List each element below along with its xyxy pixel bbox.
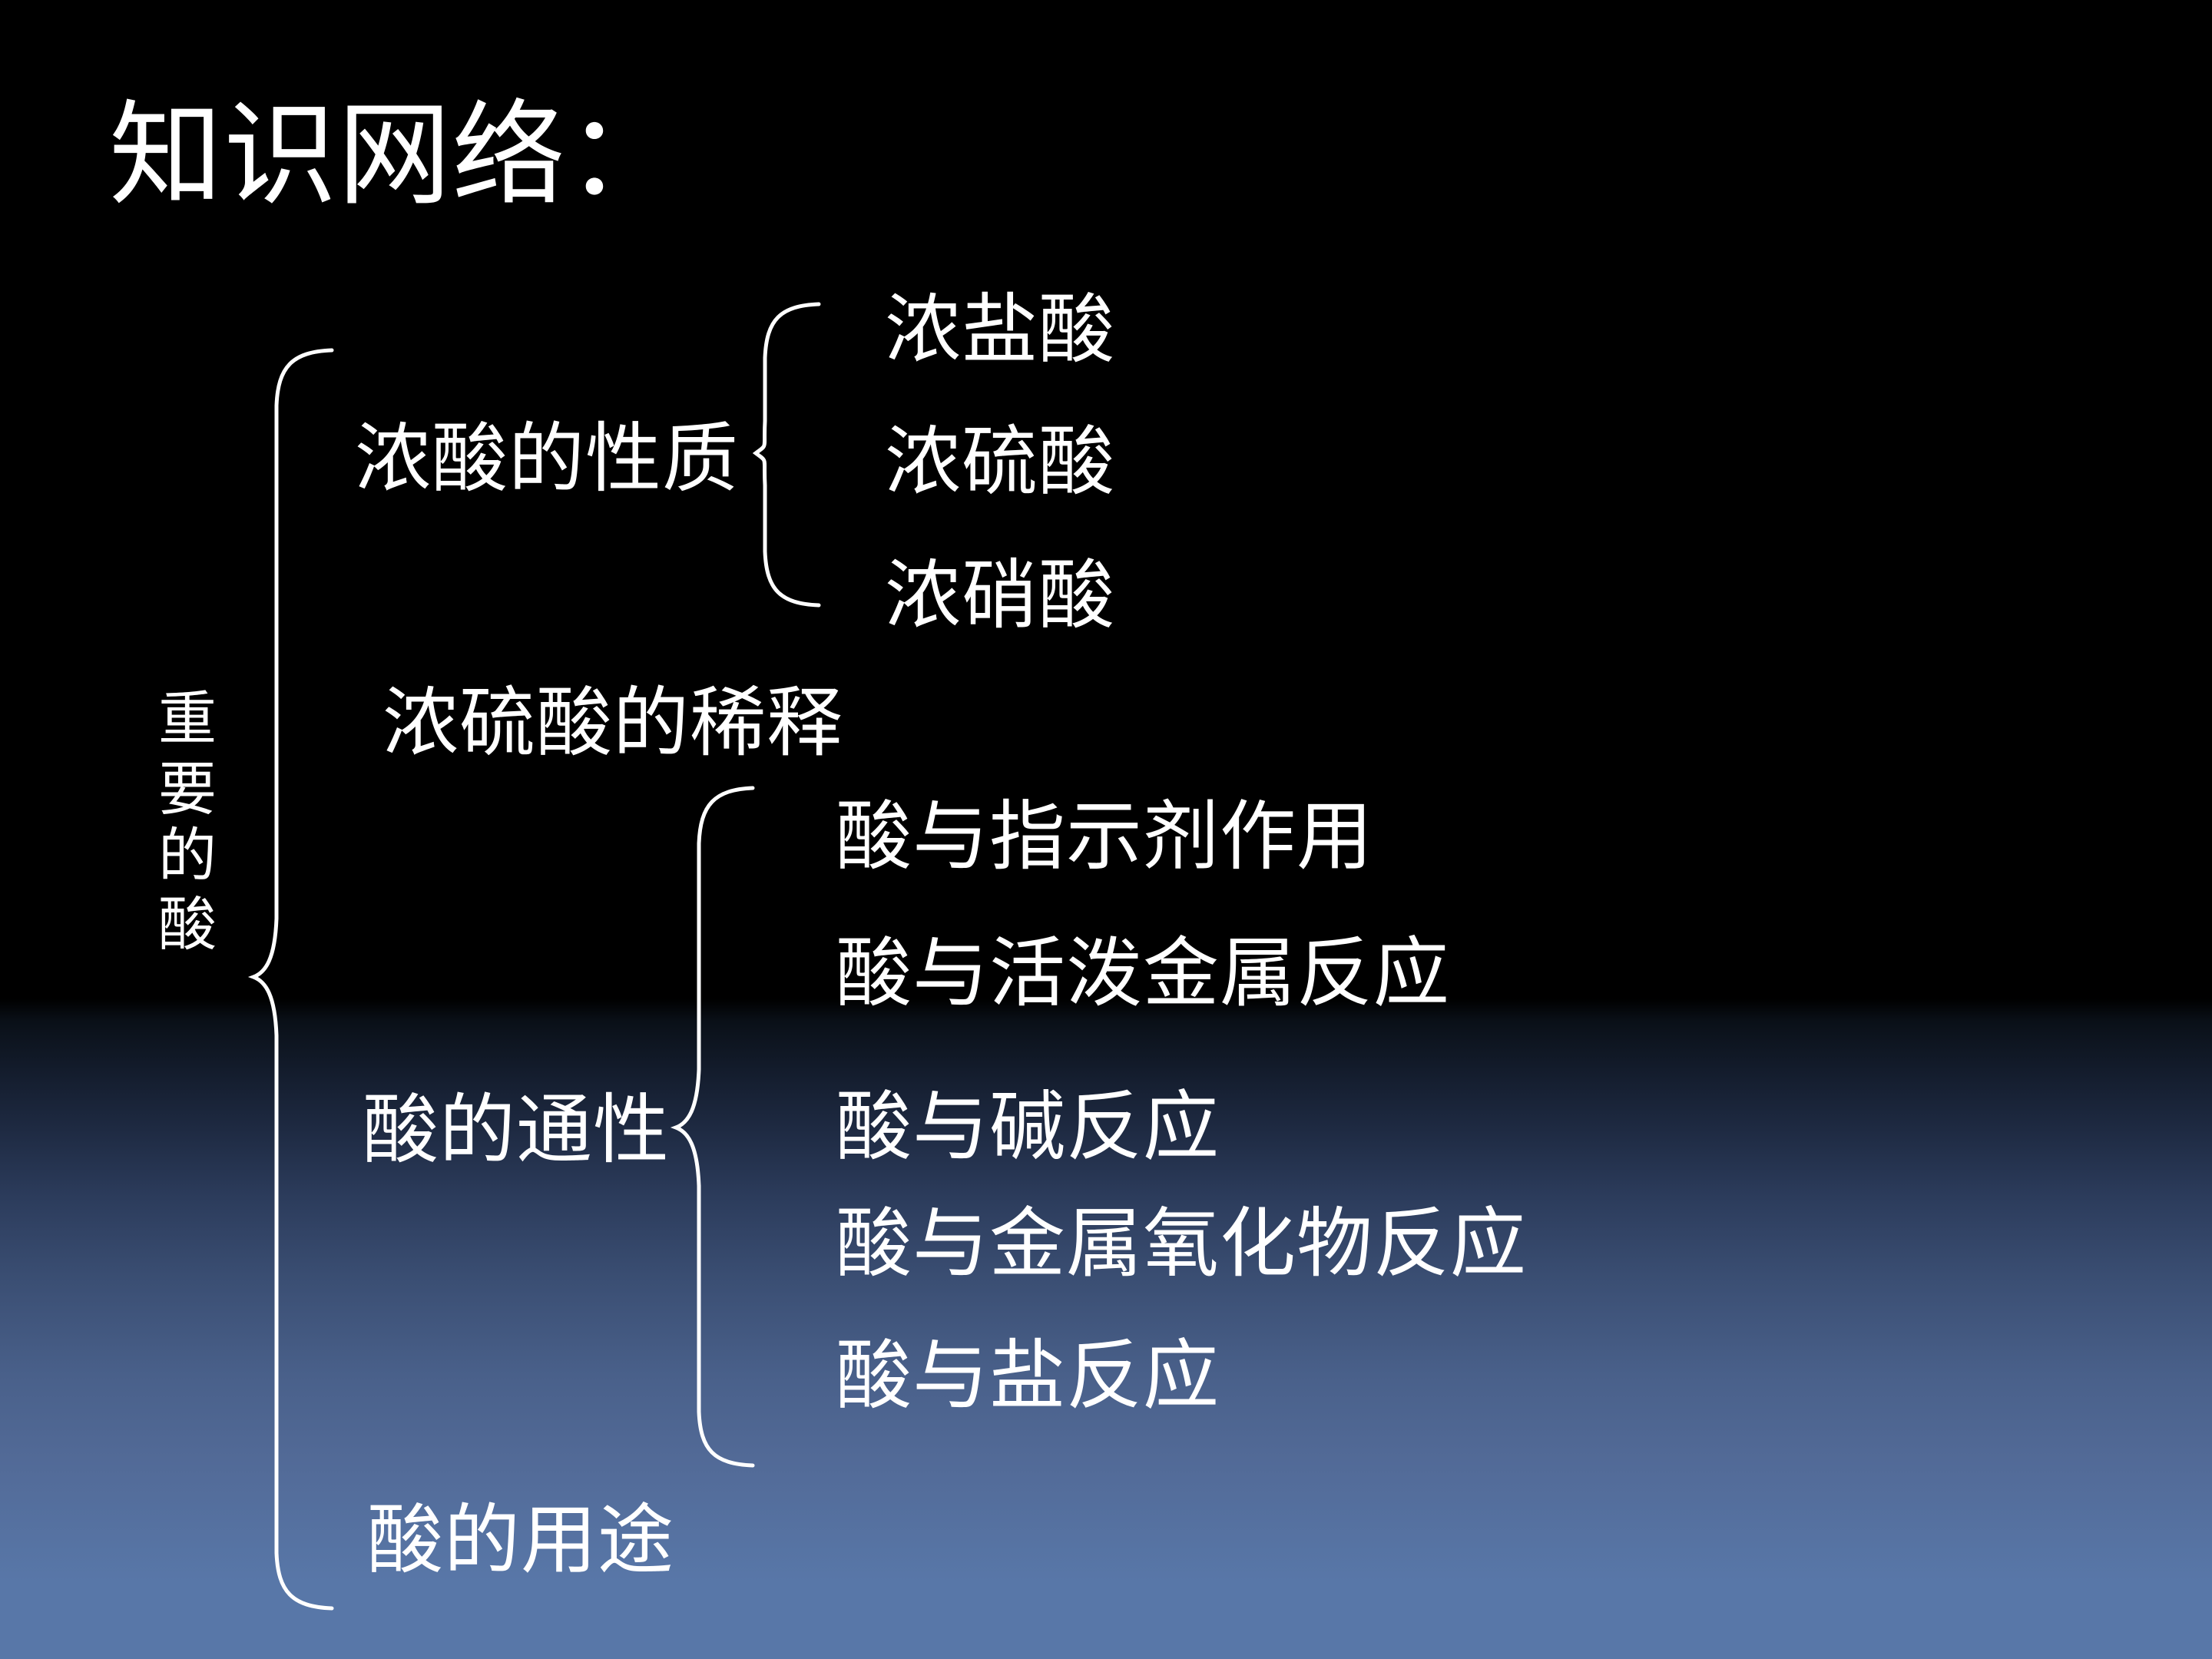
leaf-acid-with-active-metal: 酸与活泼金属反应 [836,935,1450,1012]
leaf-concentrated-sulfuric-acid: 浓硫酸 [885,424,1115,500]
leaf-acid-with-metal-oxide: 酸与金属氧化物反应 [836,1206,1527,1282]
root-label-char-3: 的 [158,826,217,885]
page-title: 知识网络： [109,98,680,212]
root-label-char-1: 重 [158,690,217,748]
root-label-char-4: 酸 [158,896,217,954]
leaf-acid-with-salt: 酸与盐反应 [836,1338,1220,1414]
leaf-concentrated-nitric-acid: 浓硝酸 [885,558,1115,634]
branch-label-general-properties-of-acids: 酸的通性 [363,1092,670,1168]
branch-label-uses-of-acids: 酸的用途 [367,1502,674,1578]
leaf-concentrated-hydrochloric-acid: 浓盐酸 [885,292,1115,368]
root-label-char-2: 要 [158,760,217,819]
leaf-acid-with-indicator: 酸与指示剂作用 [836,799,1373,875]
branch-label-concentrated-acid-properties: 浓酸的性质 [355,421,739,497]
leaf-acid-with-base: 酸与碱反应 [836,1089,1220,1165]
branch-label-dilution-of-concentrated-sulfuric-acid: 浓硫酸的稀释 [382,685,843,761]
slide-canvas: 知识网络： 重 要 的 酸 浓酸的性质 浓盐酸 浓硫酸 浓硝酸 浓硫酸的稀释 酸… [0,0,2212,1659]
